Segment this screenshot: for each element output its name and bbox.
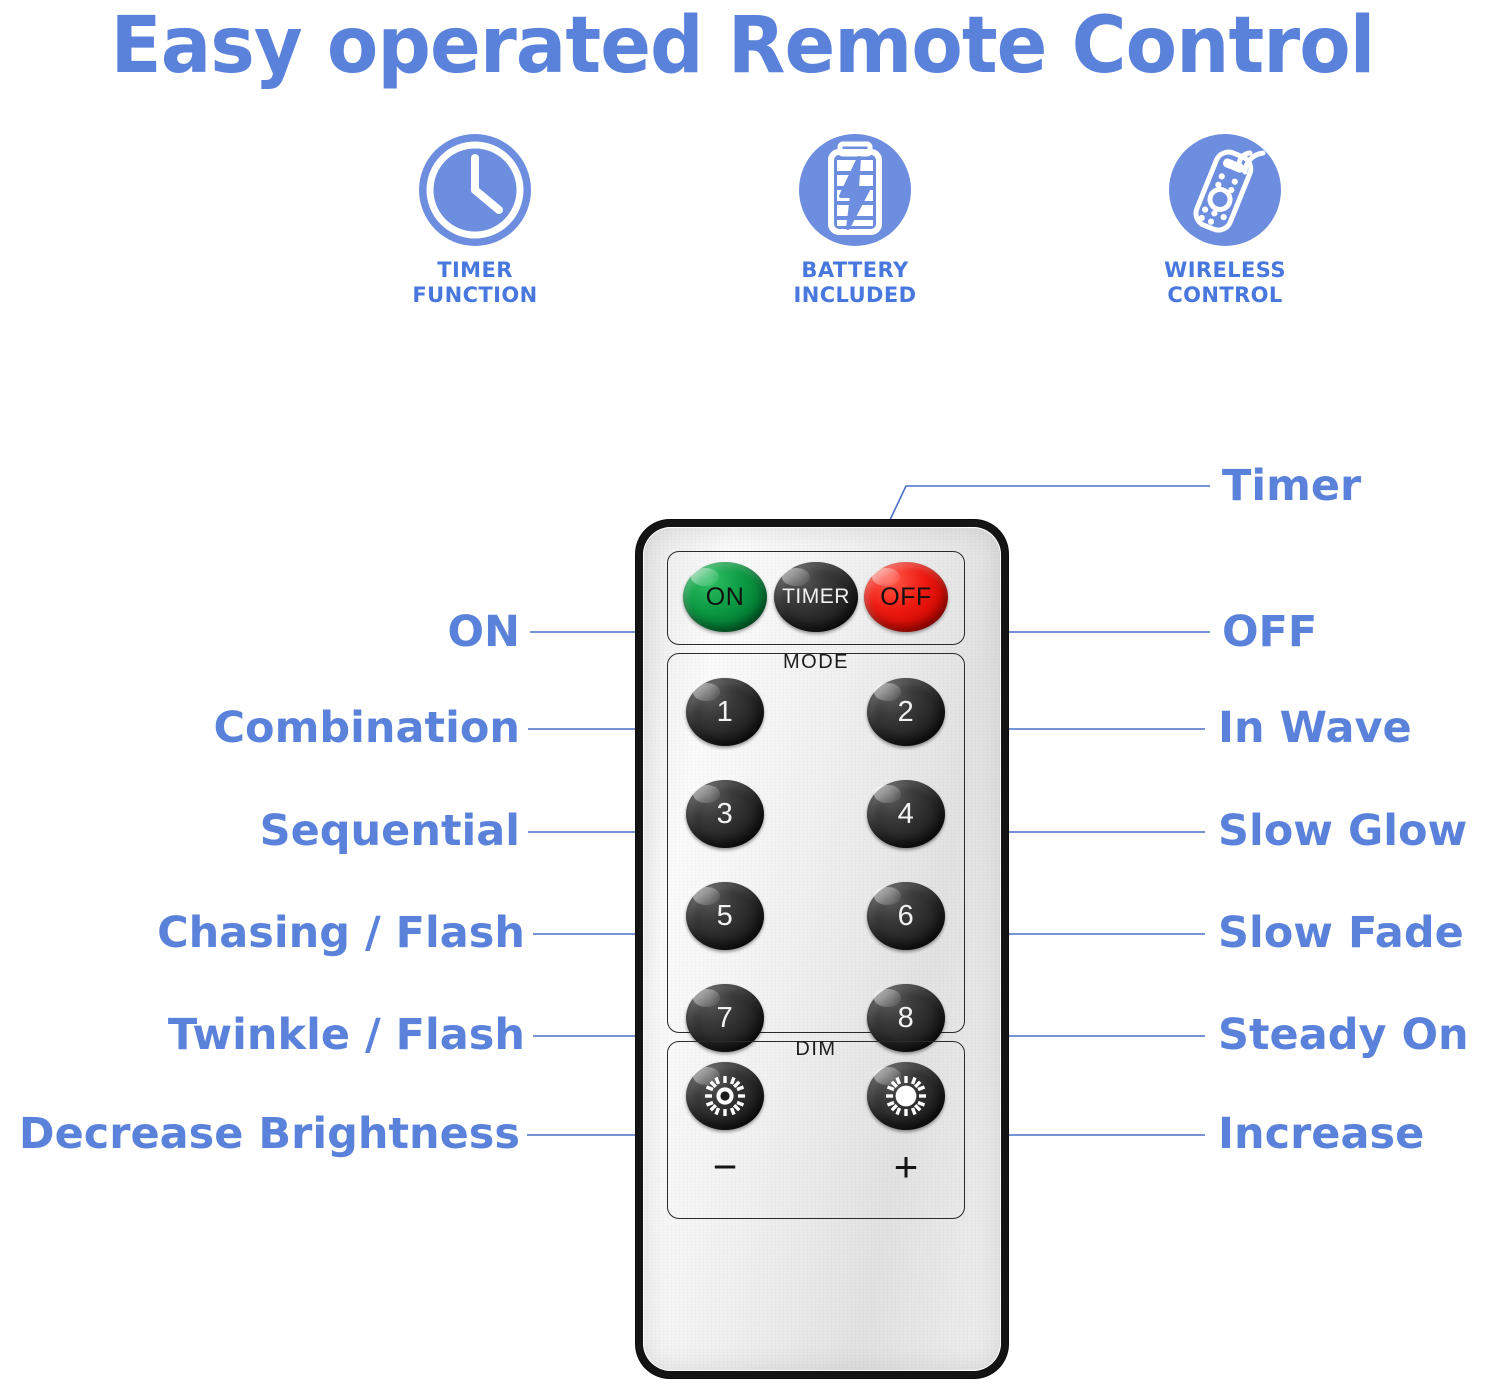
callout-decrease-brightness: Decrease Brightness (8, 1111, 520, 1157)
callout-on: ON (220, 609, 520, 655)
callout-twinkle-flash: Twinkle / Flash (100, 1012, 525, 1058)
timer-button-label: TIMER (782, 585, 850, 609)
feature-label-line2: INCLUDED (710, 283, 1000, 308)
mode-caption: MODE (668, 651, 964, 674)
mode-button-5[interactable]: 5 (686, 882, 764, 950)
power-panel: ON TIMER OFF (667, 551, 965, 645)
timer-button[interactable]: TIMER (774, 562, 858, 632)
clock-icon (415, 130, 535, 250)
mode-button-label: 4 (898, 798, 915, 831)
feature-label: WIRELESS CONTROL (1080, 258, 1370, 308)
feature-label-line2: FUNCTION (330, 283, 620, 308)
mode-button-1[interactable]: 1 (686, 678, 764, 746)
callout-sequential: Sequential (120, 808, 520, 854)
dim-caption: DIM (668, 1038, 964, 1061)
callout-chasing-flash: Chasing / Flash (100, 910, 525, 956)
mode-panel: MODE 1 2 3 4 5 6 (667, 653, 965, 1033)
feature-battery-included: BATTERY INCLUDED (710, 130, 1000, 308)
callout-increase: Increase (1218, 1111, 1424, 1157)
mode-button-4[interactable]: 4 (867, 780, 945, 848)
mode-button-label: 2 (898, 696, 915, 729)
mode-button-label: 3 (717, 798, 734, 831)
callout-slow-glow: Slow Glow (1218, 808, 1467, 854)
remote-control-device: ON TIMER OFF MODE 1 2 3 (636, 520, 1008, 1378)
mode-button-label: 5 (717, 900, 734, 933)
on-button-label: ON (706, 583, 745, 612)
remote-faceplate: ON TIMER OFF MODE 1 2 3 (643, 527, 1001, 1371)
mode-button-2[interactable]: 2 (867, 678, 945, 746)
feature-label-line1: WIRELESS (1080, 258, 1370, 283)
dim-panel: DIM (667, 1041, 965, 1219)
page-title: Easy operated Remote Control (30, 0, 1456, 94)
infographic-canvas: Easy operated Remote Control TIMER FUNCT… (0, 0, 1485, 1388)
feature-badges: TIMER FUNCTION BATTERY (0, 130, 1485, 320)
sun-bright-icon (884, 1074, 928, 1118)
callout-in-wave: In Wave (1218, 705, 1412, 751)
mode-button-label: 7 (717, 1002, 734, 1035)
feature-label-line1: BATTERY (710, 258, 1000, 283)
dim-decrease-button[interactable] (686, 1062, 764, 1130)
feature-label: BATTERY INCLUDED (710, 258, 1000, 308)
callout-off: OFF (1222, 609, 1317, 655)
feature-label-line1: TIMER (330, 258, 620, 283)
off-button-label: OFF (880, 583, 932, 612)
dim-decrease-sign: − (686, 1146, 764, 1188)
mode-button-label: 6 (898, 900, 915, 933)
sun-dim-icon (703, 1074, 747, 1118)
remote-signal-icon (1165, 130, 1285, 250)
feature-wireless-control: WIRELESS CONTROL (1080, 130, 1370, 308)
battery-icon (795, 130, 915, 250)
mode-button-label: 1 (717, 696, 734, 729)
feature-timer-function: TIMER FUNCTION (330, 130, 620, 308)
on-button[interactable]: ON (683, 562, 767, 632)
dim-increase-button[interactable] (867, 1062, 945, 1130)
off-button[interactable]: OFF (864, 562, 948, 632)
mode-button-3[interactable]: 3 (686, 780, 764, 848)
callout-steady-on: Steady On (1218, 1012, 1469, 1058)
mode-button-6[interactable]: 6 (867, 882, 945, 950)
callout-slow-fade: Slow Fade (1218, 910, 1464, 956)
mode-button-label: 8 (898, 1002, 915, 1035)
callout-timer: Timer (1222, 463, 1361, 509)
feature-label-line2: CONTROL (1080, 283, 1370, 308)
dim-increase-sign: + (867, 1146, 945, 1188)
feature-label: TIMER FUNCTION (330, 258, 620, 308)
callout-combination: Combination (120, 705, 520, 751)
